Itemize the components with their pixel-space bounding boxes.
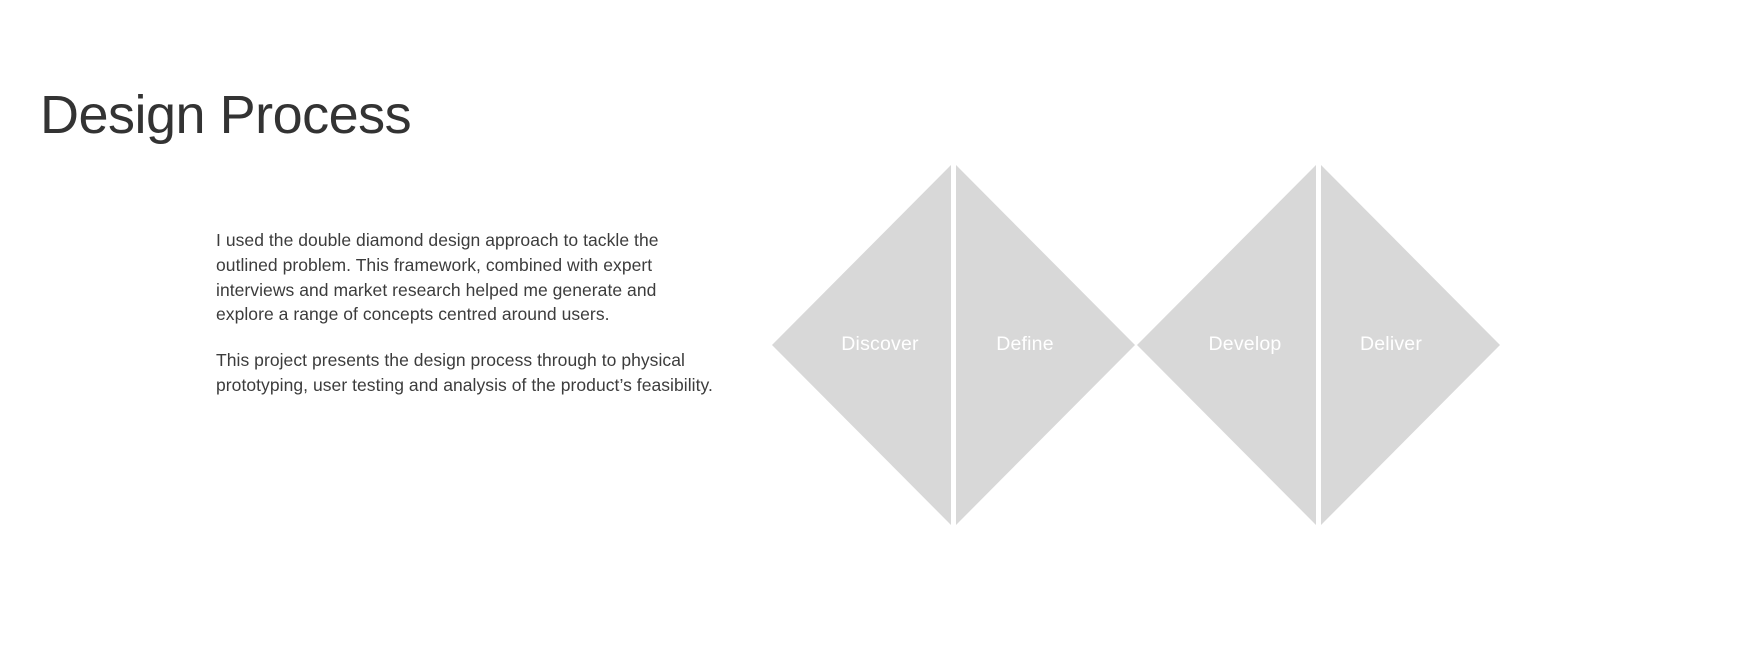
body-text-column: I used the double diamond design approac… [216, 228, 716, 398]
phase-label-define: Define [996, 333, 1054, 355]
body-paragraph-1: I used the double diamond design approac… [216, 228, 716, 327]
double-diamond-diagram: Discover Define Develop Deliver [760, 150, 1520, 550]
body-paragraph-2: This project presents the design process… [216, 348, 716, 398]
phase-label-develop: Develop [1209, 333, 1282, 355]
phase-label-deliver: Deliver [1360, 333, 1422, 355]
phase-label-discover: Discover [841, 333, 919, 355]
slide-canvas: Design Process I used the double diamond… [0, 0, 1754, 647]
page-title: Design Process [40, 86, 411, 144]
